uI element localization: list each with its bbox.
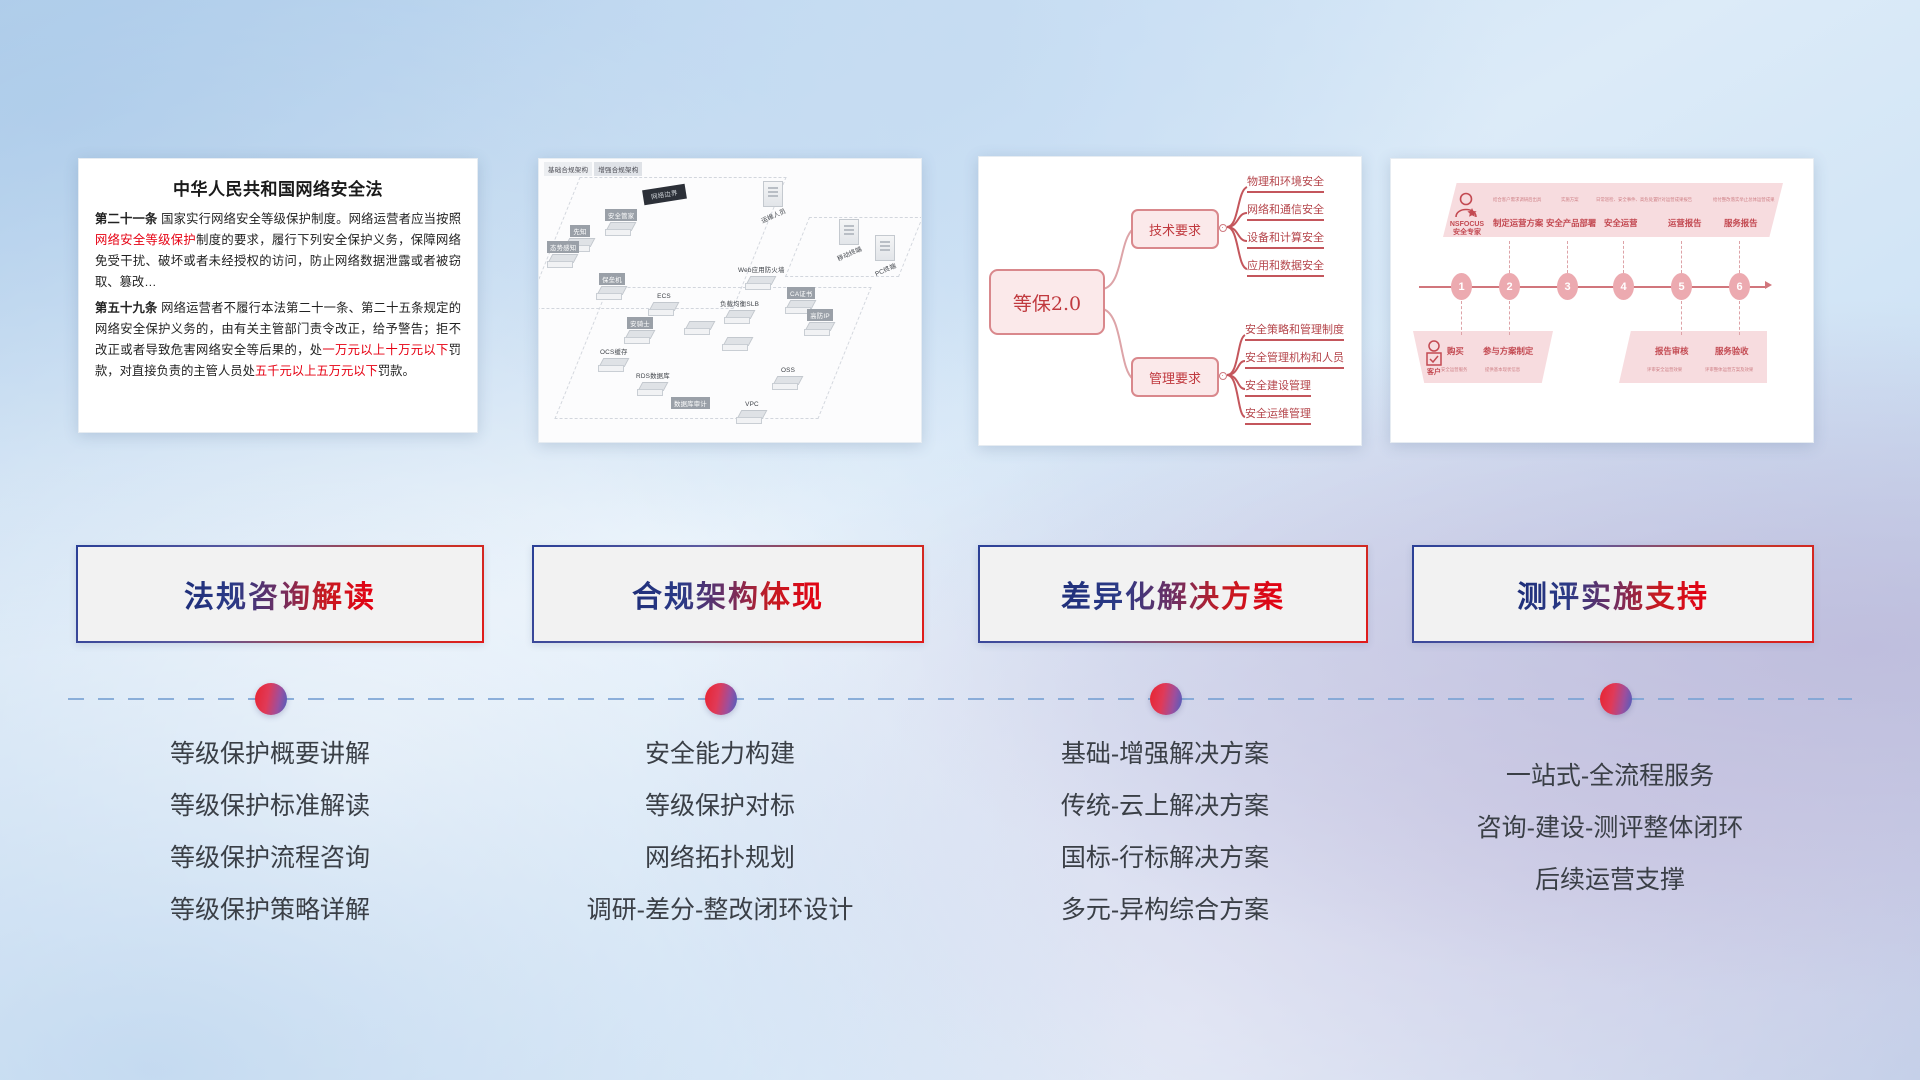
law-article-59-highlight-b: 五千元以上五万元以下 [255, 364, 378, 378]
law-article-21-highlight: 网络安全等级保护 [95, 233, 196, 247]
mindmap-branch-technical: 技术要求 [1131, 209, 1219, 249]
bullet-item: 国标-行标解决方案 [955, 846, 1375, 871]
timeline-tick-b5 [1681, 301, 1683, 335]
mindmap-leaf-physical: 物理和环境安全 [1247, 173, 1324, 193]
mindmap-collapse-dot-management[interactable] [1219, 372, 1227, 380]
timeline-tick-4 [1623, 241, 1625, 273]
bullet-column-2: 安全能力构建 等级保护对标 网络拓扑规划 调研-差分-整改闭环设计 [510, 742, 930, 950]
section-title-label-2: 合规架构体现 [632, 572, 824, 616]
architecture-node-bastion-host: 保垒机 [599, 273, 625, 302]
timeline-bottom-sub-2: 提供基本现状信息 [1485, 367, 1520, 373]
architecture-node-ecs: ECS [651, 291, 677, 318]
timeline-bottom-title-4: 服务验收 [1715, 345, 1749, 357]
timeline-top-sub-1: 结合客户需求调研后出具 [1493, 197, 1541, 203]
architecture-node-db-audit: 数据库审计 [671, 397, 710, 410]
section-title-box-2[interactable]: 合规架构体现 [532, 545, 924, 643]
mindmap-leaf-operations: 安全运维管理 [1245, 405, 1311, 425]
bullet-item: 等级保护流程咨询 [60, 846, 480, 871]
timeline-step-3[interactable]: 3 [1557, 273, 1578, 300]
bullet-item: 咨询-建设-测评整体闭环 [1395, 816, 1825, 841]
architecture-node-anti-ddos-ip: 高防IP [807, 309, 833, 338]
mindmap-leaf-device: 设备和计算安全 [1247, 229, 1324, 249]
timeline-marker-1[interactable] [255, 683, 287, 715]
law-title: 中华人民共和国网络安全法 [95, 175, 461, 200]
architecture-node-anqishi: 安骑士 [627, 317, 653, 346]
timeline-step-2[interactable]: 2 [1499, 273, 1520, 300]
law-article-59-label: 第五十九条 [95, 301, 158, 315]
law-article-21-label: 第二十一条 [95, 212, 158, 226]
card-cybersecurity-law: 中华人民共和国网络安全法 第二十一条 国家实行网络安全等级保护制度。网络运营者应… [78, 158, 478, 433]
architecture-diagram: 基础合规架构 增强合规架构 网络边界 安全管家 先知 态势感知 [539, 159, 921, 442]
timeline-tick-6 [1739, 241, 1741, 273]
law-article-59-text-c: 罚款。 [378, 364, 415, 378]
timeline-bottom-title-3: 报告审核 [1655, 345, 1689, 357]
architecture-node-ocs-cache: OCS缓存 [597, 345, 631, 374]
timeline-top-sub-2: 实施方案 [1561, 197, 1579, 203]
timeline-top-sub-4: 针对运营成果报告 [1657, 197, 1692, 203]
bullet-item: 等级保护对标 [510, 794, 930, 819]
timeline-bottom-title-1: 购买 [1447, 345, 1464, 357]
mindmap-leaf-org: 安全管理机构和人员 [1245, 349, 1344, 369]
mindmap-leaf-network: 网络和通信安全 [1247, 201, 1324, 221]
bullet-item: 后续运营支撑 [1395, 868, 1825, 893]
bullet-column-3: 基础-增强解决方案 传统-云上解决方案 国标-行标解决方案 多元-异构综合方案 [955, 742, 1375, 950]
timeline-top-sub-3: 日常巡检、安全事件、高危处置 [1596, 197, 1657, 203]
bullet-column-4: 一站式-全流程服务 咨询-建设-测评整体闭环 后续运营支撑 [1395, 764, 1825, 920]
bullet-item: 调研-差分-整改闭环设计 [510, 898, 930, 923]
timeline-tick-5 [1681, 241, 1683, 273]
timeline-tick-3 [1567, 241, 1569, 273]
architecture-node-vpc: VPC [739, 399, 765, 426]
bullet-item: 网络拓扑规划 [510, 846, 930, 871]
mindmap-leaf-application: 应用和数据安全 [1247, 257, 1324, 277]
section-title-box-1[interactable]: 法规咨询解读 [76, 545, 484, 643]
mindmap-collapse-dot-technical[interactable] [1219, 224, 1227, 232]
law-article-59-highlight-a: 一万元以上十万元以下 [322, 343, 448, 357]
architecture-node-pc-terminal: PC终端 [871, 235, 899, 276]
timeline-bottom-sub-1: 安全运营服务 [1441, 367, 1467, 373]
timeline-tick-2 [1509, 241, 1511, 273]
timeline-bottom-sub-3: 评审安全运营效果 [1647, 367, 1682, 373]
timeline-top-title-3: 安全运营 [1604, 217, 1638, 229]
bullet-column-1: 等级保护概要讲解 等级保护标准解读 等级保护流程咨询 等级保护策略详解 [60, 742, 480, 950]
timeline-marker-4[interactable] [1600, 683, 1632, 715]
timeline-step-4[interactable]: 4 [1613, 273, 1634, 300]
timeline-top-title-4: 运营报告 [1668, 217, 1702, 229]
section-title-row: 法规咨询解读 合规架构体现 差异化解决方案 测评实施支持 [0, 545, 1920, 645]
timeline-step-1[interactable]: 1 [1451, 273, 1472, 300]
customer-person-icon [1421, 339, 1447, 369]
mindmap-root: 等保2.0 [989, 269, 1105, 335]
section-title-box-4[interactable]: 测评实施支持 [1412, 545, 1814, 643]
timeline-marker-3[interactable] [1150, 683, 1182, 715]
timeline-tick-b6 [1739, 301, 1741, 335]
timeline-bottom-sub-4: 评审整体运营方案及效果 [1705, 367, 1753, 373]
timeline-tick-b1 [1461, 301, 1463, 335]
timeline-top-title-1: 制定运营方案 [1493, 217, 1543, 229]
timeline-top-title-5: 服务报告 [1724, 217, 1758, 229]
timeline-bottom-band-right [1619, 331, 1767, 383]
timeline-top-title-2: 安全产品部署 [1546, 217, 1596, 229]
architecture-node-ecs-app-server-2 [725, 337, 751, 353]
mindmap-leaf-policy: 安全策略和管理制度 [1245, 321, 1344, 341]
law-article-21: 第二十一条 国家实行网络安全等级保护制度。网络运营者应当按照网络安全等级保护制度… [95, 209, 461, 294]
timeline-role-expert: NSFOCUS 安全专家 [1441, 221, 1493, 238]
mindmap-branch-management: 管理要求 [1131, 357, 1219, 397]
mindmap-leaf-construction: 安全建设管理 [1245, 377, 1311, 397]
architecture-node-ecs-app-server [687, 321, 713, 337]
section-title-label-1: 法规咨询解读 [184, 572, 376, 616]
architecture-tab-enhanced: 增强合规架构 [594, 162, 642, 176]
section-title-label-3: 差异化解决方案 [1061, 572, 1285, 616]
section-title-box-3[interactable]: 差异化解决方案 [978, 545, 1368, 643]
architecture-tabs: 基础合规架构 增强合规架构 [544, 162, 642, 176]
card-compliance-architecture: 基础合规架构 增强合规架构 网络边界 安全管家 先知 态势感知 [538, 158, 922, 443]
bullet-item: 安全能力构建 [510, 742, 930, 767]
architecture-node-mobile-terminal: 移动终端 [833, 219, 865, 260]
card-dengbao-mindmap: 等保2.0 技术要求 物理和环境安全 网络和通信安全 设备和计算安全 应用和数据… [978, 156, 1362, 446]
architecture-tab-basic: 基础合规架构 [544, 162, 592, 176]
card-service-timeline: NSFOCUS 安全专家 客户 结合客户需求调研后出具 制定运营方案 实施方案 … [1390, 158, 1814, 443]
bullet-item: 传统-云上解决方案 [955, 794, 1375, 819]
bullet-item: 基础-增强解决方案 [955, 742, 1375, 767]
architecture-node-situation-awareness: 态势感知 [547, 241, 579, 270]
mindmap: 等保2.0 技术要求 物理和环境安全 网络和通信安全 设备和计算安全 应用和数据… [979, 157, 1361, 445]
bullet-item: 等级保护概要讲解 [60, 742, 480, 767]
screenshot-card-row: 中华人民共和国网络安全法 第二十一条 国家实行网络安全等级保护制度。网络运营者应… [0, 148, 1920, 448]
architecture-node-ops-personnel: 运维人员 [757, 181, 789, 222]
timeline-step-6[interactable]: 6 [1729, 273, 1750, 300]
architecture-node-waf: Web应用防火墙 [735, 263, 788, 292]
law-article-21-text-a: 国家实行网络安全等级保护制度。网络运营者应当按照 [158, 212, 461, 226]
section-title-label-4: 测评实施支持 [1517, 572, 1709, 616]
bullet-item: 等级保护策略详解 [60, 898, 480, 923]
architecture-node-slb: 负载均衡SLB [717, 297, 762, 326]
architecture-node-security-butler: 安全管家 [605, 209, 637, 238]
law-article-59: 第五十九条 网络运营者不履行本法第二十一条、第二十五条规定的网络安全保护义务的，… [95, 298, 461, 383]
bullet-item: 等级保护标准解读 [60, 794, 480, 819]
timeline-step-5[interactable]: 5 [1671, 273, 1692, 300]
bullet-item: 一站式-全流程服务 [1395, 764, 1825, 789]
timeline-arrow-icon [1765, 281, 1772, 289]
timeline-marker-2[interactable] [705, 683, 737, 715]
timeline-bottom-title-2: 参与方案制定 [1483, 345, 1533, 357]
service-timeline: NSFOCUS 安全专家 客户 结合客户需求调研后出具 制定运营方案 实施方案 … [1391, 159, 1813, 442]
bullet-item: 多元-异构综合方案 [955, 898, 1375, 923]
architecture-node-oss: OSS [775, 365, 801, 392]
architecture-node-rds-database: RDS数据库 [633, 369, 673, 398]
timeline-dashed-axis [68, 698, 1852, 700]
expert-person-icon [1451, 191, 1481, 223]
timeline-tick-b2 [1509, 301, 1511, 335]
timeline-top-sub-5: 给付整改落实举止总体运营成果 [1713, 197, 1774, 203]
